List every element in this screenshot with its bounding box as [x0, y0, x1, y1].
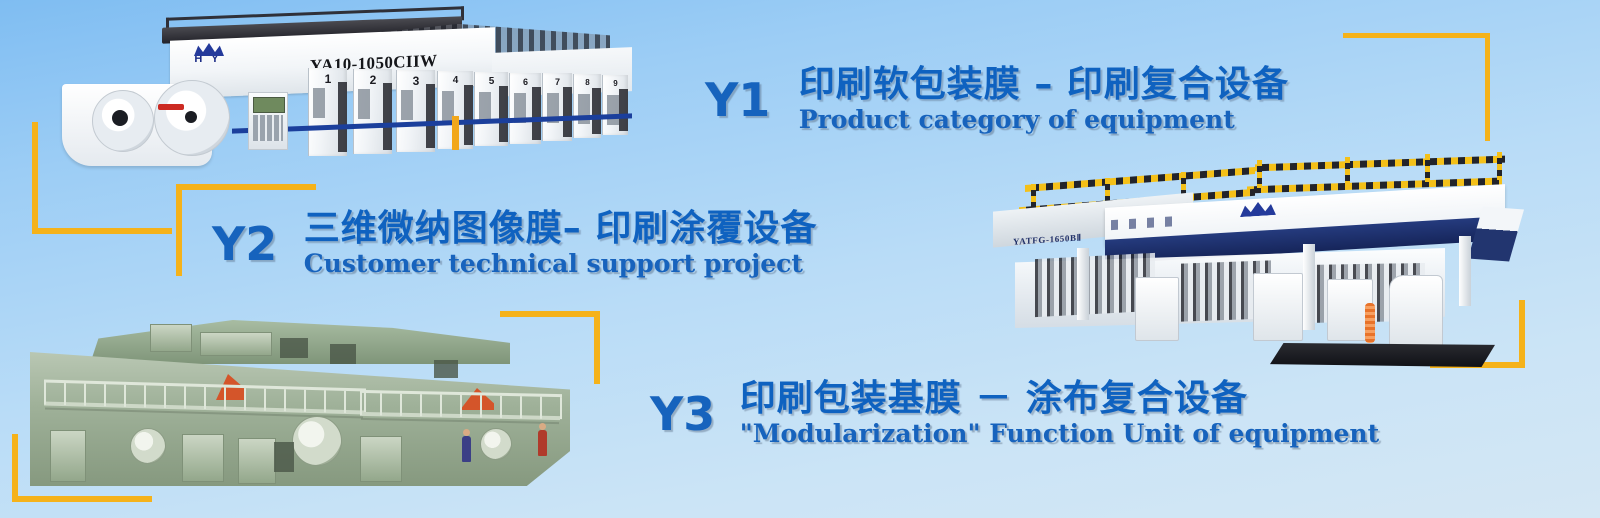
machine-y2-rail-post: [1497, 152, 1502, 180]
machine-y2-safety-rail: [1025, 167, 1255, 192]
label-title-cn-y3: 印刷包装基膜 － 涂布复合设备: [740, 380, 1379, 418]
machine-y3-handrail: [360, 390, 562, 419]
unit-shadow: [592, 88, 601, 134]
machine-y2-rail-post: [1031, 184, 1036, 210]
machine-y1-print-unit: 1: [308, 68, 347, 156]
machine-y1-print-unit: 9: [602, 75, 628, 135]
unit-number: 9: [603, 79, 628, 88]
machine-y1-print-unit: 8: [573, 74, 601, 138]
machine-image-y2: YATFG-1650BⅡ: [985, 152, 1515, 367]
console-keypad: [253, 115, 283, 141]
label-title-cn-y2: 三维微纳图像膜– 印刷涂覆设备: [304, 210, 818, 248]
machine-y3-motor: [434, 360, 458, 378]
machine-y2-safety-rail: [1255, 156, 1505, 172]
machine-image-y1: H Y YA10-1050CIIW 1 2 3 4 5 6: [62, 8, 607, 178]
machine-y2-cabinet: [1253, 273, 1303, 341]
label-block-y2: Y2 三维微纳图像膜– 印刷涂覆设备 Customer technical su…: [212, 210, 817, 277]
machine-y2-cabinet: [1135, 277, 1179, 341]
bracket-top-right: [1343, 33, 1490, 141]
label-title-cn-y1: 印刷软包装膜 – 印刷复合设备: [799, 66, 1289, 104]
label-block-y3: Y3 印刷包装基膜 － 涂布复合设备 "Modularization" Func…: [650, 380, 1379, 447]
unit-panel: [607, 95, 619, 125]
label-title-en-y3: "Modularization" Function Unit of equipm…: [740, 420, 1379, 448]
product-category-banner: H Y YA10-1050CIIW 1 2 3 4 5 6: [0, 0, 1600, 518]
unit-shadow: [426, 84, 435, 148]
machine-y1-brand-logo: H Y: [184, 44, 232, 68]
machine-y3-drum: [130, 428, 166, 464]
machine-y3-cabinet: [182, 434, 224, 482]
label-code-y1: Y1: [705, 73, 770, 127]
machine-y3-cabinet: [360, 436, 402, 482]
unit-number: 6: [510, 77, 541, 87]
label-text-column-y1: 印刷软包装膜 – 印刷复合设备 Product category of equi…: [799, 66, 1289, 133]
machine-y2-support-leg: [1077, 248, 1089, 320]
machine-y1-print-unit: 7: [542, 73, 572, 141]
unit-number: 7: [543, 77, 572, 87]
unit-panel: [479, 92, 491, 122]
machine-y2-base-platform: [1270, 343, 1495, 367]
unit-shadow: [383, 83, 392, 150]
unit-panel: [313, 88, 325, 118]
machine-y3-duct: [200, 332, 272, 356]
machine-y3-shadow: [274, 442, 294, 472]
machine-y2-hose: [1365, 303, 1375, 343]
label-code-y3: Y3: [650, 387, 715, 441]
unit-shadow: [563, 87, 572, 137]
machine-y3-motor: [280, 338, 308, 358]
unit-shadow: [338, 82, 347, 152]
machine-y1-roll-hub: [112, 110, 128, 126]
unit-shadow: [532, 87, 541, 140]
machine-y1-print-unit: 2: [353, 69, 392, 154]
machine-y1-print-unit: 5: [474, 72, 508, 146]
machine-y2-cabinet: [1389, 275, 1443, 347]
machine-y1-print-unit: 3: [396, 70, 435, 152]
machine-y2-support-leg: [1303, 244, 1315, 330]
machine-y2-rail-post: [1425, 154, 1430, 182]
unit-number: 8: [574, 78, 601, 87]
console-screen: [253, 97, 285, 113]
unit-shadow: [464, 85, 473, 145]
unit-shadow: [499, 86, 508, 142]
machine-y3-cabinet: [50, 430, 86, 482]
machine-y3-drum: [292, 416, 342, 466]
machine-y1-roll-hub: [185, 111, 197, 123]
machine-y3-operator: [462, 436, 471, 462]
label-text-column-y2: 三维微纳图像膜– 印刷涂覆设备 Customer technical suppo…: [304, 210, 818, 277]
machine-y3-cabinet: [238, 438, 276, 484]
label-title-en-y1: Product category of equipment: [799, 106, 1289, 134]
machine-y2-rail-post: [1345, 157, 1350, 185]
unit-panel: [358, 89, 370, 119]
machine-y3-duct: [150, 324, 192, 352]
label-title-en-y2: Customer technical support project: [304, 250, 818, 278]
label-block-y1: Y1 印刷软包装膜 – 印刷复合设备 Product category of e…: [705, 66, 1289, 133]
machine-y1-marker: [158, 104, 184, 110]
machine-y3-operator: [538, 430, 547, 456]
unit-shadow: [619, 89, 628, 131]
machine-y2-rail-post: [1257, 160, 1262, 188]
machine-image-y3: [30, 318, 570, 486]
machine-y3-frame: [30, 352, 570, 486]
label-code-y2: Y2: [212, 217, 277, 271]
machine-y2-support-leg: [1459, 236, 1471, 306]
machine-y3-motor: [330, 344, 356, 364]
unit-panel: [401, 90, 413, 120]
machine-y1-operator-console: [248, 92, 288, 150]
label-text-column-y3: 印刷包装基膜 － 涂布复合设备 "Modularization" Functio…: [740, 380, 1379, 447]
machine-y3-drum: [480, 428, 512, 460]
machine-y1-yellow-marker: [452, 116, 459, 150]
machine-y1-print-unit: 6: [509, 73, 541, 144]
